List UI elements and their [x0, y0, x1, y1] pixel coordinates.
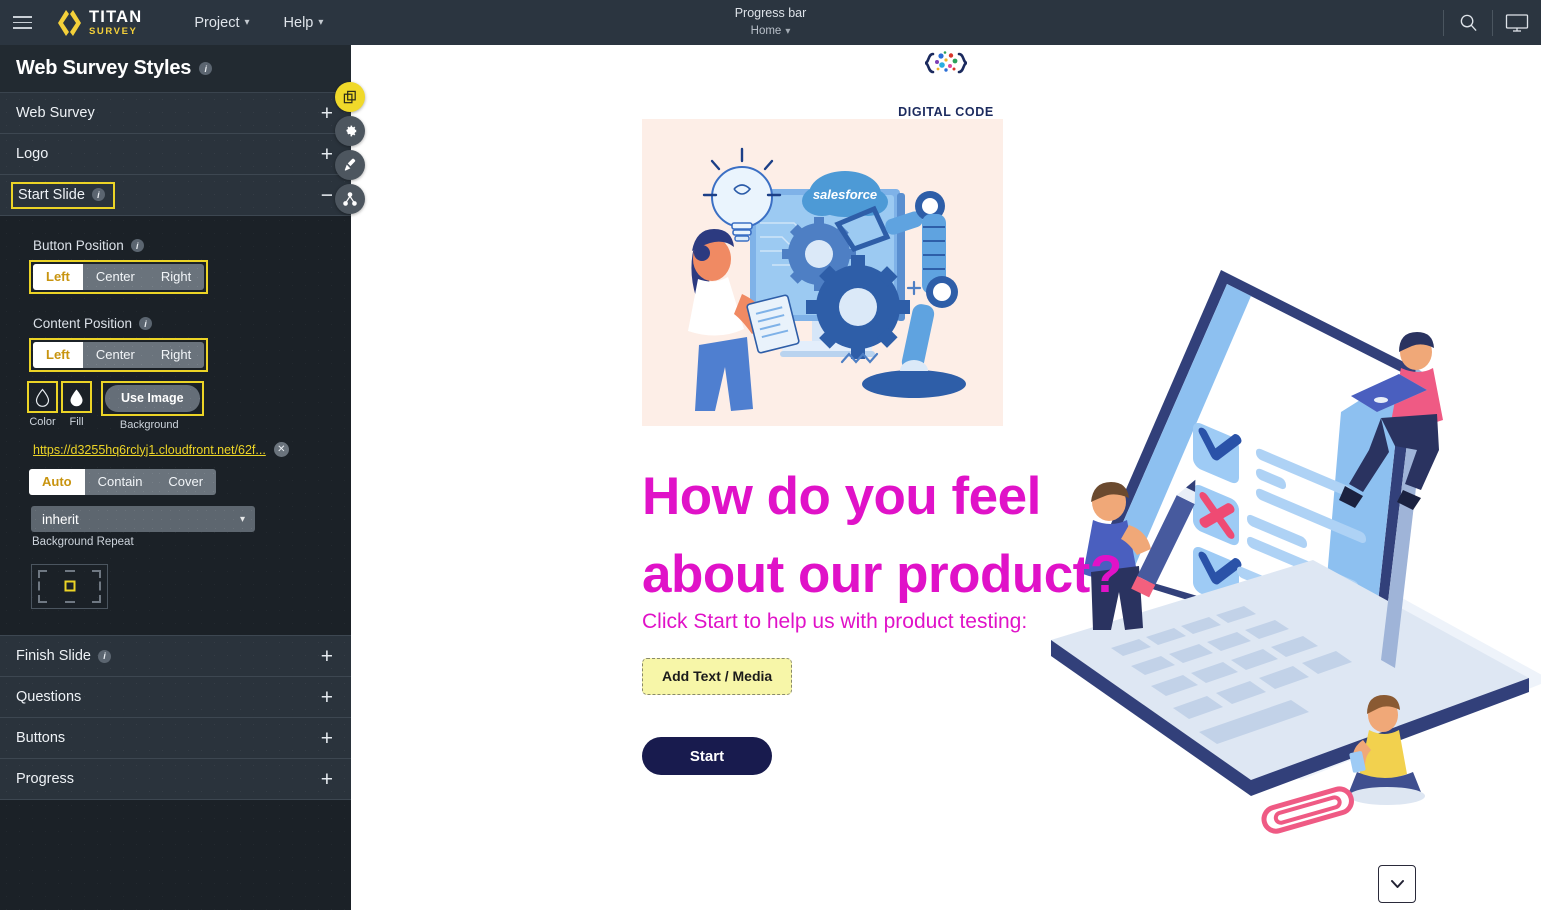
- content-position-control: Left Center Right: [0, 338, 351, 372]
- sidebar-section-progress[interactable]: Progress +: [0, 759, 351, 800]
- gear-icon[interactable]: [335, 116, 365, 146]
- nav-help-label: Help: [284, 15, 314, 31]
- close-circle-icon[interactable]: ✕: [274, 442, 289, 457]
- button-position-right[interactable]: Right: [148, 264, 204, 290]
- pos-bottom-center[interactable]: [57, 594, 82, 608]
- sidebar-section-label: Start Slide: [18, 187, 85, 203]
- sidebar-section-label: Questions: [16, 689, 81, 705]
- fit-mode-cover[interactable]: Cover: [155, 469, 216, 495]
- button-position-label: Button Position: [33, 238, 124, 253]
- use-image-button[interactable]: Use Image: [105, 385, 200, 412]
- sidebar-floating-actions: [335, 82, 365, 214]
- svg-text:salesforce: salesforce: [813, 187, 877, 202]
- pos-top-left[interactable]: [32, 565, 57, 579]
- background-position-grid: [31, 564, 108, 609]
- image-url-row: https://d3255hq6rclyj1.cloudfront.net/62…: [0, 431, 351, 457]
- nav-help[interactable]: Help ▾: [284, 15, 324, 31]
- home-label: Home: [751, 24, 782, 39]
- survey-logo[interactable]: DIGITAL CODE: [351, 50, 1541, 119]
- droplet-filled-icon[interactable]: [64, 384, 89, 410]
- nav-project-label: Project: [194, 15, 239, 31]
- background-repeat-select[interactable]: inherit ▾: [31, 506, 255, 532]
- chevron-down-icon: ▾: [240, 514, 245, 525]
- pos-bottom-left[interactable]: [32, 594, 57, 608]
- search-icon[interactable]: [1444, 0, 1492, 45]
- headline-line-2: about our product?: [642, 536, 1202, 614]
- highlight-box: Left Center Right: [29, 338, 208, 372]
- button-position-segmented: Left Center Right: [33, 264, 204, 290]
- pos-middle-right[interactable]: [82, 579, 107, 593]
- logo-text: DIGITAL CODE: [898, 105, 994, 119]
- add-text-media-button[interactable]: Add Text / Media: [642, 658, 792, 695]
- fit-mode-auto[interactable]: Auto: [29, 469, 85, 495]
- brand-subtitle: SURVEY: [89, 27, 142, 37]
- content-position-left[interactable]: Left: [33, 342, 83, 368]
- sidebar-section-label: Finish Slide: [16, 648, 91, 664]
- button-position-control: Left Center Right: [0, 260, 351, 294]
- expand-toggle-icon[interactable]: +: [321, 687, 337, 708]
- hero-illustration[interactable]: salesforce: [642, 119, 1003, 426]
- headline-line-1: How do you feel: [642, 458, 1202, 536]
- background-position-control: [0, 564, 351, 609]
- background-repeat-value: inherit: [42, 512, 79, 527]
- fit-mode-contain[interactable]: Contain: [85, 469, 156, 495]
- background-repeat-caption: Background Repeat: [0, 532, 351, 548]
- start-button[interactable]: Start: [642, 737, 772, 775]
- digital-code-braces-logo: [916, 50, 976, 102]
- share-nodes-icon[interactable]: [335, 184, 365, 214]
- selected-highlight: Start Slide i: [11, 182, 115, 209]
- sidebar-section-questions[interactable]: Questions +: [0, 677, 351, 718]
- info-icon[interactable]: i: [92, 188, 105, 201]
- brand-logo[interactable]: TITAN SURVEY: [54, 8, 142, 38]
- scroll-down-button[interactable]: [1378, 865, 1416, 903]
- background-repeat-control: inherit ▾: [0, 506, 351, 532]
- chevron-down-icon: [1390, 879, 1405, 889]
- sidebar-section-label: Buttons: [16, 730, 65, 746]
- sidebar-section-label: Progress: [16, 771, 74, 787]
- content-position-segmented: Left Center Right: [33, 342, 204, 368]
- sidebar-title: Web Survey Styles: [16, 57, 191, 80]
- sidebar-section-finish-slide[interactable]: Finish Slide i +: [0, 636, 351, 677]
- fill-caption: Fill: [69, 416, 83, 428]
- fit-mode-control: Auto Contain Cover: [0, 469, 351, 495]
- top-bar: TITAN SURVEY Project ▾ Help ▾ Progress b…: [0, 0, 1541, 45]
- expand-toggle-icon[interactable]: +: [321, 728, 337, 749]
- desktop-preview-icon[interactable]: [1493, 0, 1541, 45]
- pos-bottom-right[interactable]: [82, 594, 107, 608]
- chevron-down-icon: ▾: [785, 24, 790, 39]
- brush-icon[interactable]: [335, 150, 365, 180]
- survey-headline[interactable]: How do you feel about our product?: [642, 458, 1202, 614]
- background-cell: Use Image Background: [95, 381, 204, 431]
- expand-toggle-icon[interactable]: +: [321, 646, 337, 667]
- sidebar-section-label: Logo: [16, 146, 48, 162]
- content-position-label-row: Content Position i: [0, 316, 351, 338]
- fill-swatch-cell: Fill: [61, 381, 92, 428]
- expand-toggle-icon[interactable]: +: [321, 769, 337, 790]
- titan-diamond-logo: [54, 8, 82, 38]
- background-controls: Color Fill Use Image Background: [0, 381, 351, 431]
- button-position-label-row: Button Position i: [0, 238, 351, 260]
- info-icon[interactable]: i: [131, 239, 144, 252]
- top-nav: Project ▾ Help ▾: [194, 15, 323, 31]
- info-icon[interactable]: i: [98, 650, 111, 663]
- info-icon[interactable]: i: [199, 62, 212, 75]
- styles-sidebar: Web Survey Styles i Web Survey + Logo + …: [0, 45, 351, 910]
- start-slide-panel: Button Position i Left Center Right Cont…: [0, 216, 351, 619]
- pos-top-right[interactable]: [82, 565, 107, 579]
- pos-middle-left[interactable]: [32, 579, 57, 593]
- survey-preview-canvas: DIGITAL CODE: [351, 45, 1541, 910]
- highlight-box: Left Center Right: [29, 260, 208, 294]
- color-swatch-cell: Color: [27, 381, 58, 428]
- pos-top-center[interactable]: [57, 565, 82, 579]
- content-position-label: Content Position: [33, 316, 132, 331]
- sidebar-sections-bottom: Finish Slide i + Questions + Buttons + P…: [0, 635, 351, 800]
- brand-title: TITAN: [89, 9, 142, 26]
- sidebar-section-buttons[interactable]: Buttons +: [0, 718, 351, 759]
- color-caption: Color: [29, 416, 55, 428]
- hamburger-icon[interactable]: [0, 0, 44, 45]
- home-dropdown[interactable]: Home ▾: [751, 24, 791, 39]
- nav-project[interactable]: Project ▾: [194, 15, 249, 31]
- top-bar-actions: [1443, 0, 1541, 45]
- chevron-down-icon: ▾: [318, 17, 323, 28]
- image-url-link[interactable]: https://d3255hq6rclyj1.cloudfront.net/62…: [33, 443, 266, 457]
- sidebar-section-start-slide[interactable]: Start Slide i −: [0, 175, 351, 216]
- droplet-outline-icon[interactable]: [30, 384, 55, 410]
- sidebar-section-web-survey[interactable]: Web Survey +: [0, 93, 351, 134]
- sidebar-section-logo[interactable]: Logo +: [0, 134, 351, 175]
- content-position-right[interactable]: Right: [148, 342, 204, 368]
- info-icon[interactable]: i: [139, 317, 152, 330]
- content-position-center[interactable]: Center: [83, 342, 148, 368]
- button-position-left[interactable]: Left: [33, 264, 83, 290]
- highlight-box: Use Image: [101, 381, 204, 416]
- sidebar-header: Web Survey Styles i: [0, 45, 351, 93]
- survey-subheadline[interactable]: Click Start to help us with product test…: [642, 610, 1027, 634]
- highlight-box: [61, 381, 92, 413]
- chevron-down-icon: ▾: [245, 17, 250, 28]
- duplicate-icon[interactable]: [335, 82, 365, 112]
- selected-position-marker: [64, 581, 75, 592]
- button-position-center[interactable]: Center: [83, 264, 148, 290]
- background-caption: Background: [120, 419, 179, 431]
- fit-mode-segmented: Auto Contain Cover: [29, 469, 216, 495]
- sidebar-section-label: Web Survey: [16, 105, 95, 121]
- pos-center[interactable]: [57, 579, 82, 593]
- highlight-box: [27, 381, 58, 413]
